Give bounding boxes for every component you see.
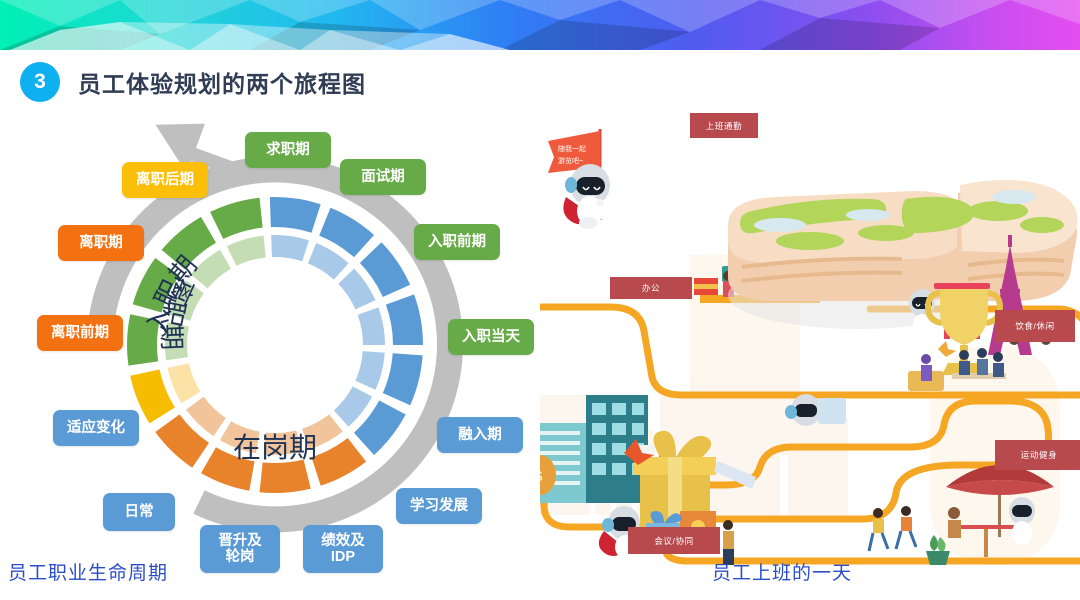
inner-ring-segment — [271, 235, 309, 261]
journey-stage-tag[interactable]: 办公 — [610, 277, 692, 299]
outer-ring-segment — [270, 197, 321, 233]
inner-ring-segment — [308, 243, 349, 280]
stage-pill[interactable]: 面试期 — [340, 159, 426, 195]
stage-pill[interactable]: 入职当天 — [448, 319, 534, 355]
header-banner — [0, 0, 1080, 50]
stage-pill[interactable]: 求职期 — [245, 132, 331, 168]
outer-ring-segment — [210, 198, 263, 239]
stage-pill[interactable]: 离职期 — [58, 225, 144, 261]
stage-pill[interactable]: 适应变化 — [53, 410, 139, 446]
inner-ring-segment — [358, 307, 385, 345]
inner-ring-segment — [355, 351, 384, 390]
robot-mascot-flag: 随我一起 游览吧~ — [548, 129, 610, 229]
stage-pill[interactable]: 日常 — [103, 493, 175, 531]
stage-pill[interactable]: 离职前期 — [37, 315, 123, 351]
svg-text:游览吧~: 游览吧~ — [558, 156, 583, 165]
slide-root: 3 员工体验规划的两个旅程图 入职期 离职期 在岗期 — [0, 0, 1080, 600]
right-diagram-caption: 员工上班的一天 — [712, 558, 852, 585]
day-at-work-diagram: 随我一起 游览吧~ WELCOME — [540, 95, 1080, 565]
inner-ring-segment — [227, 236, 266, 266]
stage-pill[interactable]: 绩效及 IDP — [303, 525, 383, 573]
stage-pill[interactable]: 入职前期 — [414, 224, 500, 260]
page-title-row: 3 员工体验规划的两个旅程图 — [20, 62, 366, 102]
journey-stage-tag[interactable]: 运动健身 — [995, 440, 1080, 470]
svg-text:随我一起: 随我一起 — [558, 144, 586, 153]
outer-ring-segment — [383, 353, 423, 405]
outer-ring-segment — [386, 294, 423, 345]
left-diagram-caption: 员工职业生命周期 — [8, 558, 168, 585]
banner-polygon-art — [0, 0, 1080, 50]
inner-ring-segment — [167, 363, 200, 403]
journey-stage-tag[interactable]: 饮食/休闲 — [995, 310, 1075, 342]
stage-pill[interactable]: 晋升及 轮岗 — [200, 525, 280, 573]
page-title: 员工体验规划的两个旅程图 — [78, 65, 366, 99]
journey-stage-tag[interactable]: 上班通勤 — [690, 113, 758, 138]
outer-ring-segment — [260, 459, 311, 493]
journey-stage-tag[interactable]: 会议/协同 — [628, 527, 720, 554]
step-number-badge: 3 — [20, 62, 60, 102]
runners — [869, 506, 916, 551]
stage-pill[interactable]: 学习发展 — [396, 488, 482, 524]
stage-pill[interactable]: 离职后期 — [122, 162, 208, 198]
stage-pill[interactable]: 融入期 — [437, 417, 523, 453]
ring-word-onjob: 在岗期 — [233, 432, 317, 463]
employee-lifecycle-diagram: 入职期 离职期 在岗期 求职期面试期入职前期入职当天融入期学习发展绩效及 IDP… — [0, 100, 540, 600]
